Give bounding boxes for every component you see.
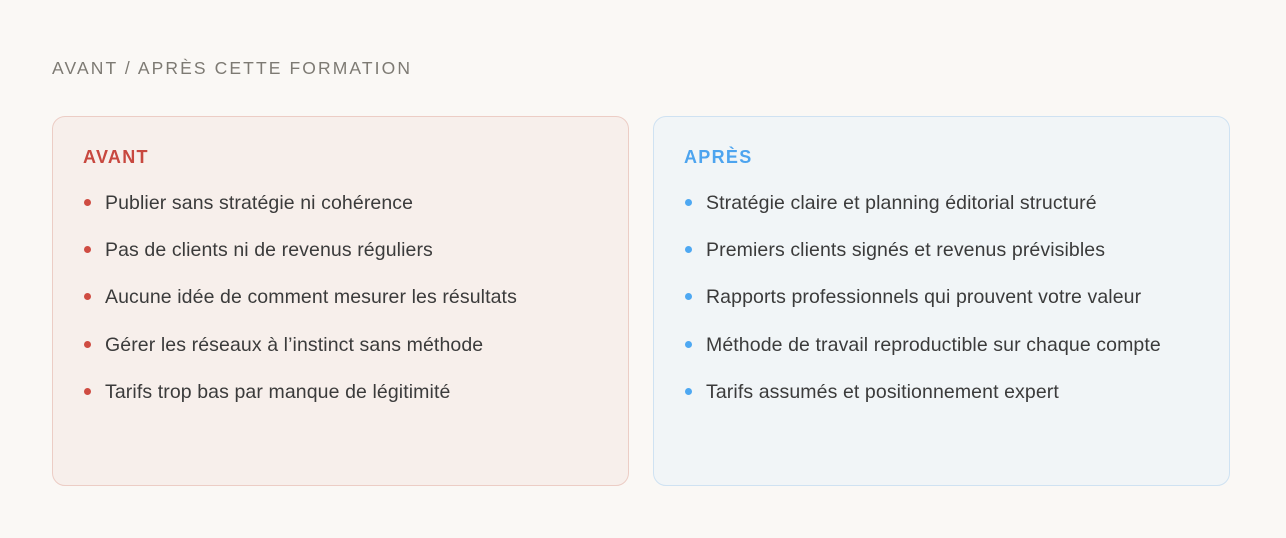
list-item: Premiers clients signés et revenus prévi…	[684, 235, 1201, 265]
list-item-label: Publier sans stratégie ni cohérence	[105, 192, 413, 214]
list-item: Pas de clients ni de revenus réguliers	[83, 235, 600, 265]
after-card-heading: APRÈS	[684, 147, 1201, 168]
list-item-label: Méthode de travail reproductible sur cha…	[706, 334, 1161, 356]
list-item: Rapports professionnels qui prouvent vot…	[684, 282, 1201, 312]
list-item: Stratégie claire et planning éditorial s…	[684, 188, 1201, 218]
list-item: Tarifs trop bas par manque de légitimité	[83, 377, 600, 407]
list-item-label: Tarifs assumés et positionnement expert	[706, 381, 1059, 403]
before-card: AVANT Publier sans stratégie ni cohérenc…	[52, 116, 629, 486]
list-item-label: Tarifs trop bas par manque de légitimité	[105, 381, 450, 403]
bullet-dot-icon	[84, 293, 91, 300]
bullet-dot-icon	[84, 341, 91, 348]
bullet-dot-icon	[685, 388, 692, 395]
list-item-label: Rapports professionnels qui prouvent vot…	[706, 286, 1141, 308]
list-item-label: Gérer les réseaux à l’instinct sans méth…	[105, 334, 483, 356]
bullet-dot-icon	[84, 199, 91, 206]
bullet-dot-icon	[685, 246, 692, 253]
list-item-label: Premiers clients signés et revenus prévi…	[706, 239, 1105, 261]
list-item-label: Stratégie claire et planning éditorial s…	[706, 192, 1097, 214]
list-item: Aucune idée de comment mesurer les résul…	[83, 282, 600, 312]
list-item: Publier sans stratégie ni cohérence	[83, 188, 600, 218]
after-list: Stratégie claire et planning éditorial s…	[684, 188, 1201, 407]
list-item: Méthode de travail reproductible sur cha…	[684, 330, 1201, 360]
comparison-section: AVANT / APRÈS CETTE FORMATION AVANT Publ…	[0, 0, 1286, 538]
bullet-dot-icon	[84, 388, 91, 395]
before-card-heading: AVANT	[83, 147, 600, 168]
list-item-label: Pas de clients ni de revenus réguliers	[105, 239, 433, 261]
after-card: APRÈS Stratégie claire et planning édito…	[653, 116, 1230, 486]
bullet-dot-icon	[685, 199, 692, 206]
page-title: AVANT / APRÈS CETTE FORMATION	[52, 58, 412, 79]
list-item: Tarifs assumés et positionnement expert	[684, 377, 1201, 407]
bullet-dot-icon	[685, 341, 692, 348]
bullet-dot-icon	[685, 293, 692, 300]
list-item-label: Aucune idée de comment mesurer les résul…	[105, 286, 517, 308]
list-item: Gérer les réseaux à l’instinct sans méth…	[83, 330, 600, 360]
comparison-cards: AVANT Publier sans stratégie ni cohérenc…	[52, 116, 1230, 486]
bullet-dot-icon	[84, 246, 91, 253]
before-list: Publier sans stratégie ni cohérence Pas …	[83, 188, 600, 407]
